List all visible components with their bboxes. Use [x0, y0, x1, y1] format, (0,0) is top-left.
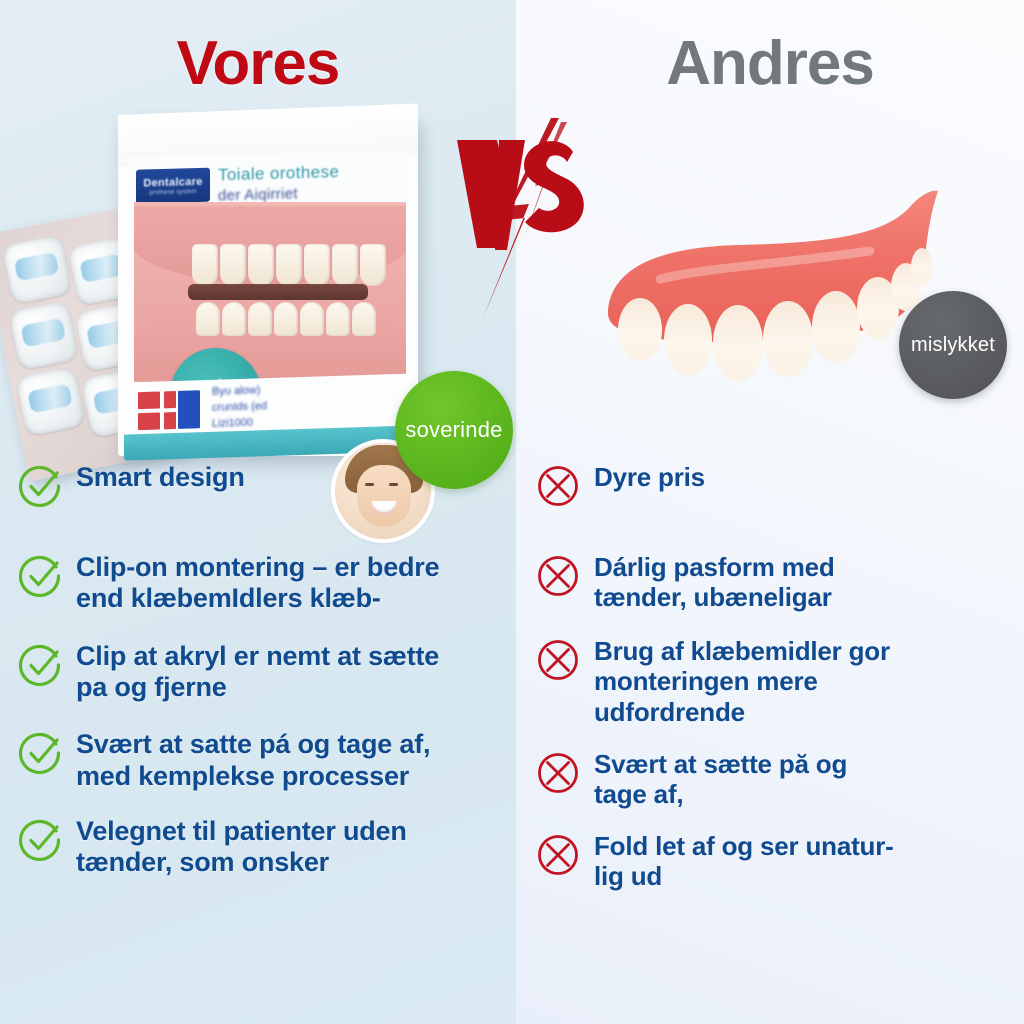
product-box: Dentalcare prothese system Toiale orothe…: [118, 116, 418, 456]
feature-item: Dyre pris: [536, 462, 1012, 508]
feature-text: Velegnet til patienter uden tænder, som …: [76, 816, 407, 879]
feature-item: Velegnet til patienter uden tænder, som …: [18, 816, 518, 879]
tooth: [360, 244, 386, 286]
feature-text: Dárlig pasform med tænder, ubæneligar: [594, 552, 835, 612]
tooth: [248, 302, 272, 336]
blister-cell: [2, 234, 72, 304]
check-circle-icon: [18, 731, 62, 775]
feature-list-ours: Smart designClip-on montering – er bedre…: [18, 462, 518, 879]
danish-flag-icon: [138, 390, 200, 430]
cross-circle-icon: [536, 751, 580, 795]
box-title-line1: Toiale orothese: [218, 160, 402, 185]
box-bullet-text: Byu alow) crunIds (ed Lizi1000: [212, 383, 267, 433]
feature-item: Clip at akryl er nemt at sætte pa og fje…: [18, 641, 518, 704]
product-image-ours: Dentalcare prothese system Toiale orothe…: [0, 108, 430, 468]
cross-circle-icon: [536, 638, 580, 682]
feature-text: Clip at akryl er nemt at sætte pa og fje…: [76, 641, 439, 704]
check-circle-icon: [18, 554, 62, 598]
feature-item: Brug af klæbemidler gor monteringen mere…: [536, 636, 1012, 726]
tooth: [220, 244, 246, 286]
tooth: [276, 244, 302, 286]
feature-list-others: Dyre prisDárlig pasform med tænder, ubæn…: [536, 462, 1012, 891]
box-bullet-1: crunIds (ed: [212, 399, 267, 417]
tooth: [196, 302, 220, 336]
cross-circle-icon: [536, 833, 580, 877]
tooth: [248, 244, 274, 286]
tooth: [274, 302, 298, 336]
tooth: [222, 302, 246, 336]
tooth: [332, 244, 358, 286]
feature-item: Clip-on montering – er bedre end klæbemI…: [18, 552, 518, 615]
tooth: [192, 244, 218, 286]
check-circle-icon: [18, 818, 62, 862]
cross-circle-icon: [536, 554, 580, 598]
badge-failed: mislykket: [899, 291, 1007, 399]
tooth: [352, 302, 376, 336]
feature-text: Svært at sætte pă og tage af,: [594, 749, 847, 809]
feature-item: Svært at sætte pă og tage af,: [536, 749, 1012, 809]
feature-item: Smart design: [18, 462, 518, 508]
check-circle-icon: [18, 643, 62, 687]
box-title-line2: der Aiqirriet: [218, 182, 402, 204]
cross-circle-icon: [536, 464, 580, 508]
feature-text: Fold let af og ser unatur- lig ud: [594, 831, 894, 891]
brand-logo-sub: prothese system: [149, 189, 196, 196]
tooth: [326, 302, 350, 336]
blister-cell: [9, 300, 79, 370]
heading-ours: Vores: [0, 24, 516, 104]
box-bullet-0: Byu alow): [212, 383, 267, 401]
feature-text: Clip-on montering – er bedre end klæbemI…: [76, 552, 439, 615]
brand-logo: Dentalcare prothese system: [136, 168, 210, 204]
mouth-gap-shadow: [188, 284, 368, 300]
feature-item: Dárlig pasform med tænder, ubæneligar: [536, 552, 1012, 612]
check-circle-icon: [18, 464, 62, 508]
feature-text: Dyre pris: [594, 462, 705, 492]
tooth: [300, 302, 324, 336]
blister-cell: [15, 366, 85, 436]
feature-text: Svært at satte pá og tage af, med kemple…: [76, 729, 430, 792]
heading-others: Andres: [516, 24, 1024, 104]
brand-logo-main: Dentalcare: [143, 175, 202, 189]
feature-item: Fold let af og ser unatur- lig ud: [536, 831, 1012, 891]
feature-text: Smart design: [76, 462, 245, 493]
feature-text: Brug af klæbemidler gor monteringen mere…: [594, 636, 890, 726]
box-title: Toiale orothese der Aiqirriet: [218, 160, 402, 204]
comparison-infographic: Vores Andres Dentalcar: [0, 0, 1024, 1024]
vs-badge: [455, 118, 595, 318]
box-display-window: totalys protesen: [134, 202, 406, 382]
tooth: [304, 244, 330, 286]
feature-item: Svært at satte pá og tage af, med kemple…: [18, 729, 518, 792]
